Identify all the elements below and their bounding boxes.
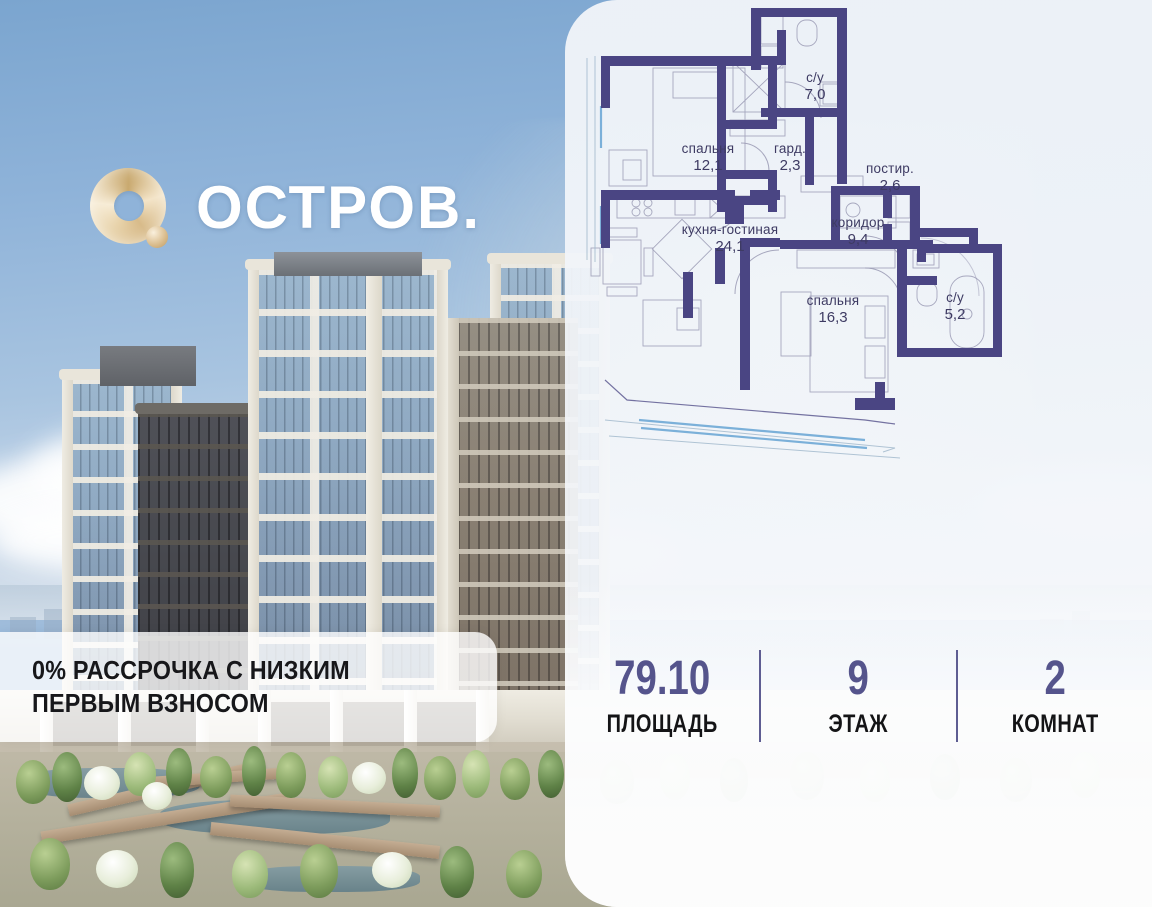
stat-floor-label: ЭТАЖ	[781, 712, 936, 737]
stat-divider	[956, 650, 958, 742]
floor-plan-card: с/у 7,0 спальня 12,1 гард. 2,3 постир. 2…	[565, 0, 1152, 907]
room-label: гард. 2,3	[755, 141, 825, 175]
roof-structure	[274, 252, 422, 276]
room-label: спальня 16,3	[788, 293, 878, 327]
stat-floor: 9 ЭТАЖ	[761, 655, 955, 737]
stat-divider	[759, 650, 761, 742]
floor-plan-drawing	[565, 0, 1152, 907]
stat-rooms: 2 КОМНАТ	[958, 655, 1152, 737]
stat-floor-value: 9	[781, 655, 936, 703]
stat-rooms-value: 2	[977, 655, 1132, 703]
brand-name: ОСТРОВ.	[196, 178, 481, 238]
floor-plan-svg	[565, 0, 1152, 907]
room-label: кухня-гостиная 24,1	[655, 222, 805, 256]
stat-area-label: ПЛОЩАДЬ	[584, 712, 739, 737]
room-label: постир. 2,6	[852, 161, 928, 195]
brand-logo: ОСТРОВ.	[90, 168, 481, 248]
stat-area: 79.10 ПЛОЩАДЬ	[565, 655, 759, 737]
room-label: с/у 7,0	[780, 70, 850, 104]
stat-area-value: 79.10	[584, 655, 739, 703]
room-label: спальня 12,1	[663, 141, 753, 175]
advertisement-card: 0% РАССРОЧКА С НИЗКИМ ПЕРВЫМ ВЗНОСОМ ОСТ…	[0, 0, 1152, 907]
stat-rooms-label: КОМНАТ	[977, 712, 1132, 737]
room-label: с/у 5,2	[922, 290, 988, 324]
property-stats: 79.10 ПЛОЩАДЬ 9 ЭТАЖ 2 КОМНАТ	[565, 638, 1152, 754]
room-label: коридор 9,4	[813, 215, 903, 249]
ring-dot-logo-icon	[90, 168, 170, 248]
promo-text: 0% РАССРОЧКА С НИЗКИМ ПЕРВЫМ ВЗНОСОМ	[32, 654, 350, 721]
roof-structure	[100, 346, 196, 386]
promo-banner: 0% РАССРОЧКА С НИЗКИМ ПЕРВЫМ ВЗНОСОМ	[0, 632, 497, 742]
